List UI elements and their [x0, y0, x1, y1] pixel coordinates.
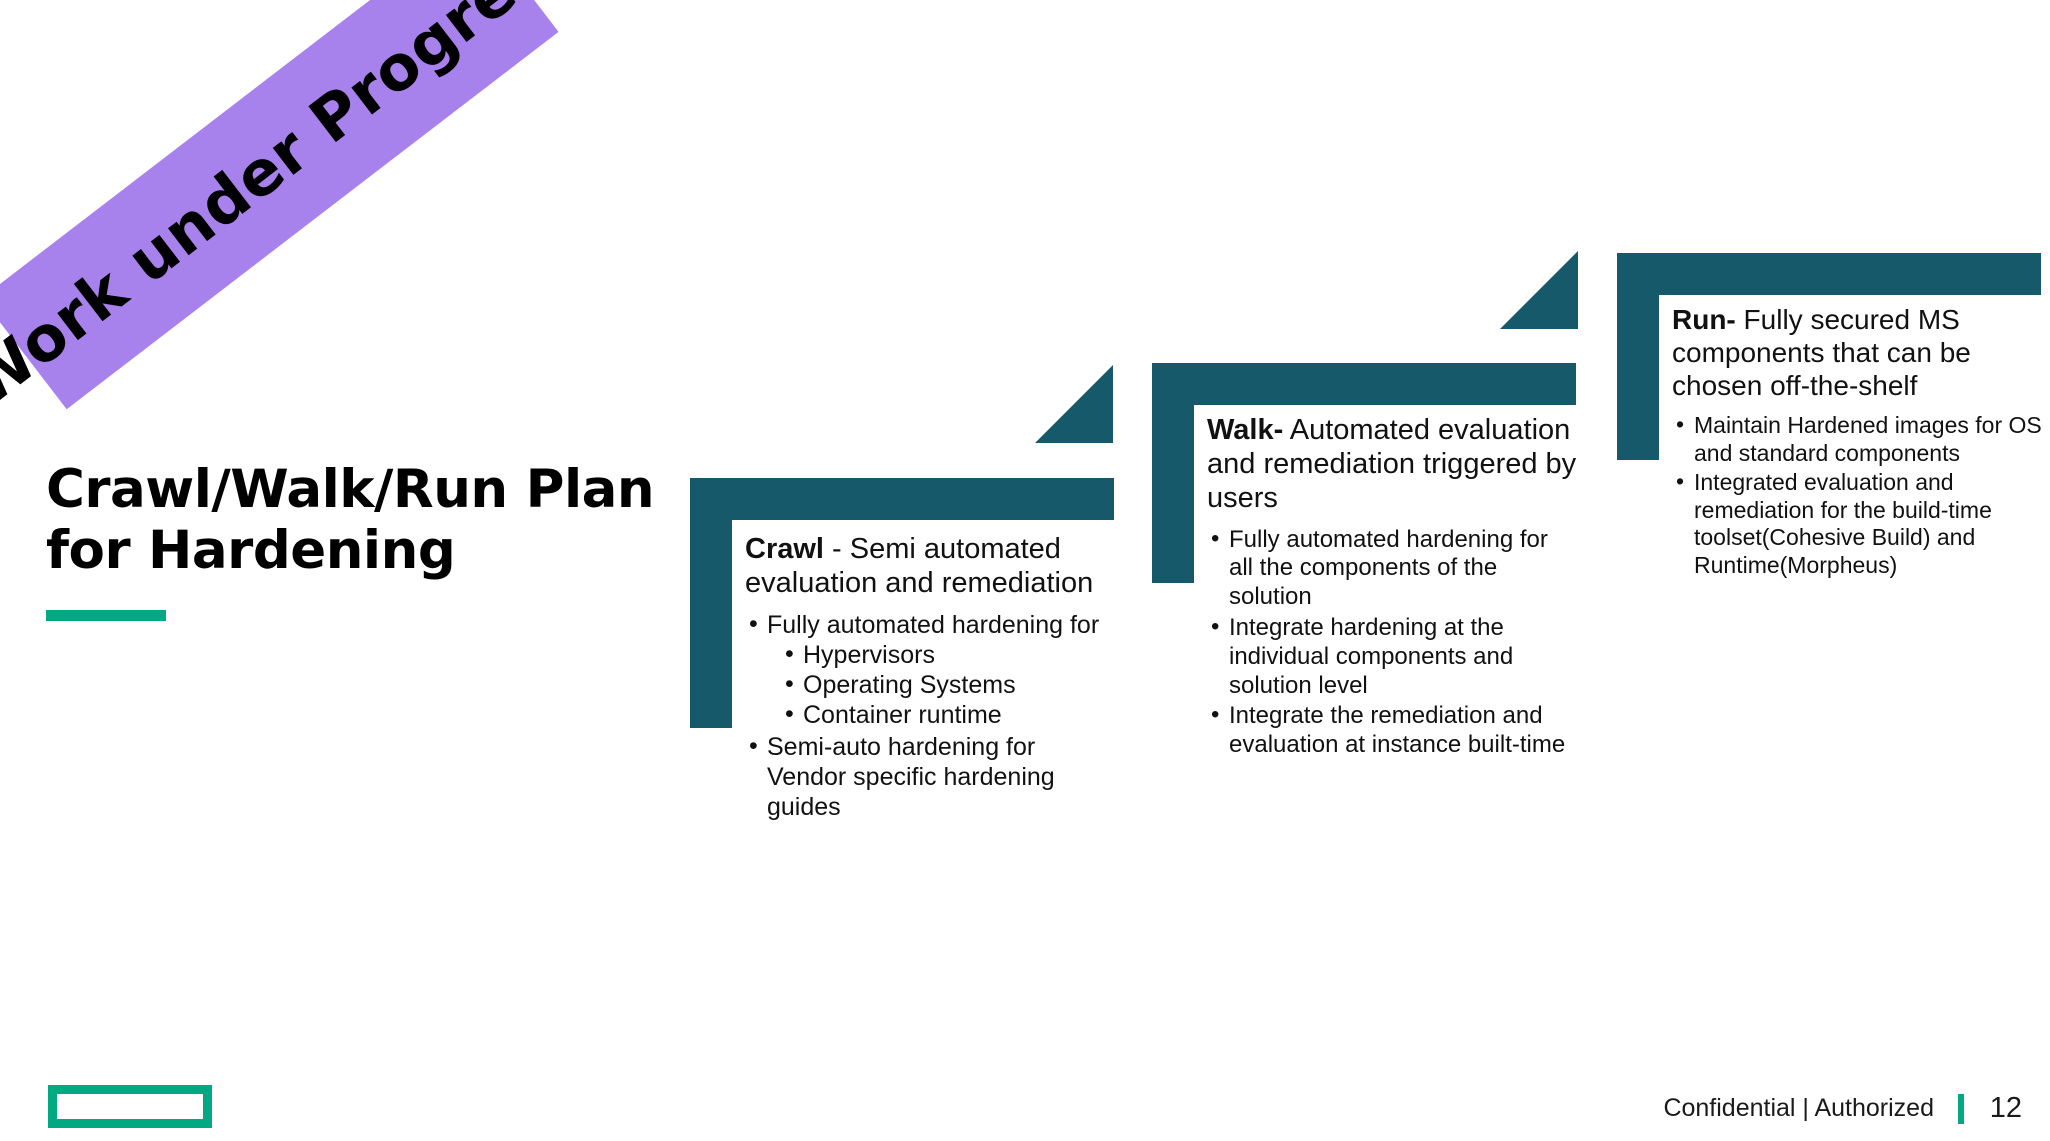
list-item: Semi-auto hardening for Vendor specific … [745, 732, 1117, 822]
card-sub-bullet-list-crawl: Hypervisors Operating Systems Container … [781, 640, 1117, 730]
card-bracket-top-crawl [690, 478, 1114, 520]
list-item: Integrate the remediation and evaluation… [1207, 702, 1577, 760]
card-bracket-left-run [1617, 295, 1659, 460]
confidentiality-label: Confidential | Authorized [1663, 1094, 1934, 1123]
watermark-label: Work under Progress [0, 0, 589, 422]
card-heading-run: Run- Fully secured MS components that ca… [1672, 303, 2044, 402]
bullet-text: Fully automated hardening for [767, 611, 1099, 639]
card-heading-walk: Walk- Automated evaluation and remediati… [1207, 413, 1577, 516]
card-body-crawl: Crawl - Semi automated evaluation and re… [745, 532, 1117, 824]
list-item: Maintain Hardened images for OS and stan… [1672, 412, 2044, 467]
card-body-run: Run- Fully secured MS components that ca… [1672, 303, 2044, 582]
card-bracket-left-walk [1152, 405, 1194, 583]
page-title: Crawl/Walk/Run Plan for Hardening [46, 460, 666, 582]
list-item: Container runtime [781, 700, 1117, 730]
hpe-logo [48, 1085, 212, 1128]
card-bracket-top-run [1617, 253, 2041, 295]
card-heading-crawl: Crawl - Semi automated evaluation and re… [745, 532, 1117, 600]
slide-canvas: Work under Progress Crawl/Walk/Run Plan … [0, 0, 2050, 1141]
list-item: Fully automated hardening for all the co… [1207, 526, 1577, 612]
connector-triangle-walk-to-run [1500, 251, 1578, 329]
card-label-walk: Walk- [1207, 414, 1283, 446]
list-item: Integrated evaluation and remediation fo… [1672, 469, 2044, 579]
footer: Confidential | Authorized 12 [1663, 1092, 2022, 1125]
card-label-crawl: Crawl [745, 533, 824, 565]
list-item: Hypervisors [781, 640, 1117, 670]
connector-triangle-crawl-to-walk [1035, 365, 1113, 443]
work-under-progress-banner: Work under Progress [0, 0, 559, 409]
card-bullet-list-run: Maintain Hardened images for OS and stan… [1672, 412, 2044, 580]
card-body-walk: Walk- Automated evaluation and remediati… [1207, 413, 1577, 762]
card-bullet-list-walk: Fully automated hardening for all the co… [1207, 526, 1577, 760]
list-item: Fully automated hardening for Hypervisor… [745, 610, 1117, 730]
card-bracket-top-walk [1152, 363, 1576, 405]
list-item: Operating Systems [781, 670, 1117, 700]
card-bracket-left-crawl [690, 520, 732, 728]
title-accent-bar [46, 610, 166, 621]
page-number: 12 [1988, 1092, 2022, 1125]
card-label-run: Run- [1672, 304, 1736, 335]
list-item: Integrate hardening at the individual co… [1207, 614, 1577, 700]
footer-divider [1958, 1094, 1964, 1124]
card-bullet-list-crawl: Fully automated hardening for Hypervisor… [745, 610, 1117, 822]
title-block: Crawl/Walk/Run Plan for Hardening [46, 460, 666, 621]
